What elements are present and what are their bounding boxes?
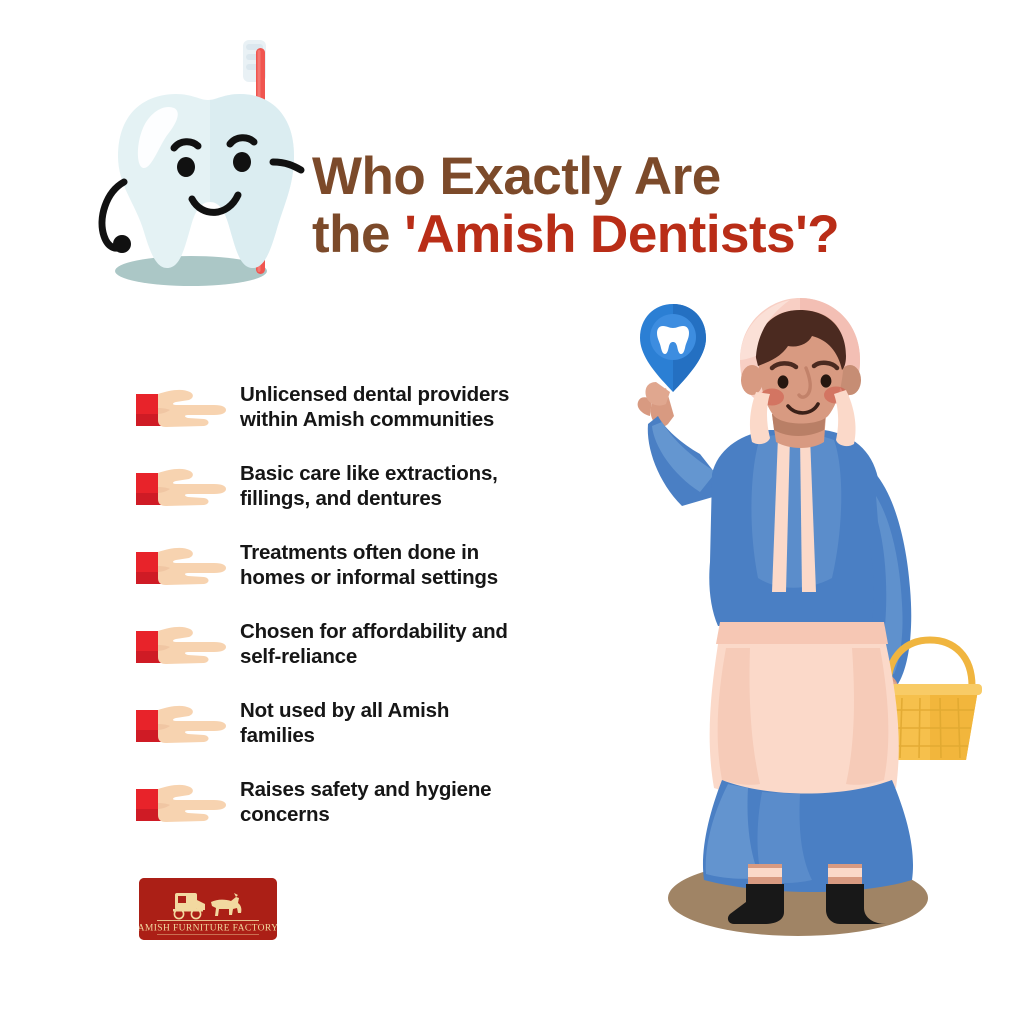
brand-logo[interactable]: AMISH FURNITURE FACTORY: [139, 878, 277, 940]
key-points-list: Unlicensed dental providerswithin Amish …: [136, 382, 566, 856]
list-item-line-2: concerns: [240, 803, 330, 826]
list-item-line-2: families: [240, 724, 315, 747]
list-item-line-1: Not used by all Amish: [240, 699, 449, 722]
list-item-line-2: self-reliance: [240, 645, 357, 668]
tooth-body: [118, 94, 294, 268]
list-item-line-2: within Amish communities: [240, 408, 494, 431]
list-item-line-1: Raises safety and hygiene: [240, 778, 491, 801]
pointing-hand-icon: [136, 781, 232, 827]
list-item-label: Not used by all Amishfamilies: [240, 698, 566, 748]
list-item: Basic care like extractions,fillings, an…: [136, 461, 566, 529]
pointing-hand-icon: [136, 544, 232, 590]
title-line-2-prefix: the: [312, 205, 404, 264]
list-item-label: Treatments often done inhomes or informa…: [240, 540, 566, 590]
pointing-hand-icon: [136, 702, 232, 748]
list-item-line-1: Basic care like extractions,: [240, 462, 498, 485]
list-item-label: Basic care like extractions,fillings, an…: [240, 461, 566, 511]
figure-torso: [709, 414, 888, 626]
tooth-location-pin-icon: [640, 304, 706, 392]
list-item: Raises safety and hygieneconcerns: [136, 777, 566, 845]
list-item: Treatments often done inhomes or informa…: [136, 540, 566, 608]
figure-skirt: [703, 780, 913, 892]
page-title: Who Exactly Are the 'Amish Dentists'?: [312, 148, 972, 264]
list-item-line-1: Treatments often done in: [240, 541, 479, 564]
list-item: Chosen for affordability andself-relianc…: [136, 619, 566, 687]
smiling-tooth-mascot: [88, 36, 318, 292]
list-item-label: Chosen for affordability andself-relianc…: [240, 619, 566, 669]
list-item-label: Unlicensed dental providerswithin Amish …: [240, 382, 566, 432]
list-item: Unlicensed dental providerswithin Amish …: [136, 382, 566, 450]
title-line-2-highlight: 'Amish Dentists'?: [404, 205, 839, 264]
pointing-hand-icon: [136, 465, 232, 511]
brand-logo-text: AMISH FURNITURE FACTORY: [139, 924, 277, 934]
amish-woman-illustration: [600, 296, 1000, 946]
header-section: Who Exactly Are the 'Amish Dentists'?: [0, 0, 1024, 300]
list-item-line-1: Chosen for affordability and: [240, 620, 508, 643]
list-item-label: Raises safety and hygieneconcerns: [240, 777, 566, 827]
figure-apron: [710, 622, 899, 802]
pointing-hand-icon: [136, 386, 232, 432]
infographic-poster: Who Exactly Are the 'Amish Dentists'? Un…: [0, 0, 1024, 1024]
list-item-line-2: fillings, and dentures: [240, 487, 442, 510]
pointing-hand-icon: [136, 623, 232, 669]
list-item: Not used by all Amishfamilies: [136, 698, 566, 766]
title-line-1: Who Exactly Are: [312, 148, 972, 206]
list-item-line-1: Unlicensed dental providers: [240, 383, 509, 406]
list-item-line-2: homes or informal settings: [240, 566, 498, 589]
title-line-2: the 'Amish Dentists'?: [312, 206, 972, 264]
